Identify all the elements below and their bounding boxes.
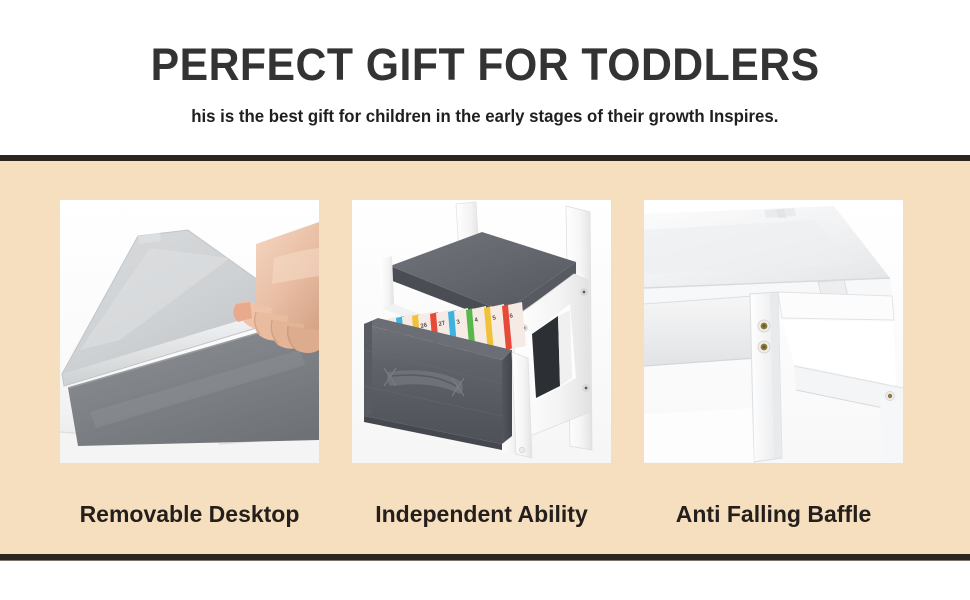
page-subtitle: his is the best gift for children in the… — [191, 106, 778, 127]
feature-image-anti-falling-baffle — [644, 200, 903, 463]
product-feature-banner: PERFECT GIFT FOR TODDLERS his is the bes… — [0, 0, 970, 600]
removable-desktop-illustration — [60, 200, 319, 463]
feature-caption-removable-desktop: Removable Desktop — [60, 497, 319, 531]
anti-falling-baffle-illustration — [644, 200, 903, 463]
feature-caption-independent-ability: Independent Ability — [352, 497, 611, 531]
banner-footer — [0, 561, 970, 600]
banner-header: PERFECT GIFT FOR TODDLERS his is the bes… — [0, 0, 970, 155]
page-title: PERFECT GIFT FOR TODDLERS — [151, 40, 820, 89]
feature-image-independent-ability: 24 25 26 27 3 4 5 6 — [352, 200, 611, 463]
feature-image-removable-desktop — [60, 200, 319, 463]
independent-ability-illustration: 24 25 26 27 3 4 5 6 — [352, 200, 611, 463]
feature-caption-anti-falling-baffle: Anti Falling Baffle — [644, 497, 903, 531]
